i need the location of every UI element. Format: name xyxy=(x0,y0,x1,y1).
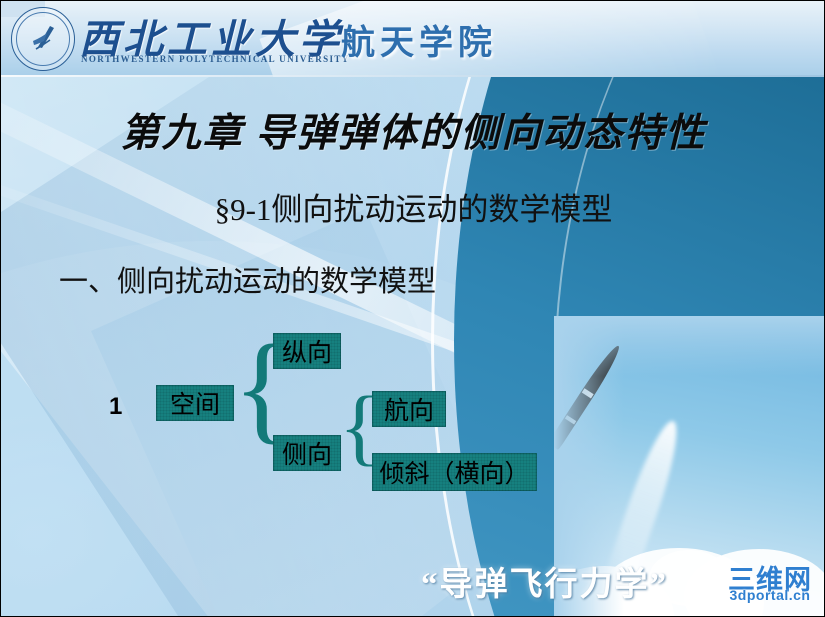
tree-node-heading: 航向 xyxy=(372,391,446,427)
site-watermark: 三维网 3dportal.cn xyxy=(728,567,812,602)
tree-node-root-label: 空间 xyxy=(170,385,220,421)
presentation-slide: 西北工业大学 NORTHWESTERN POLYTECHNICAL UNIVER… xyxy=(0,0,825,617)
tree-node-roll-label: 倾斜（横向） xyxy=(379,454,529,490)
tree-node-lateral-label: 侧向 xyxy=(282,435,332,471)
course-title: “导弹飞行力学” xyxy=(421,557,668,605)
tree-node-longitudinal: 纵向 xyxy=(273,333,341,369)
tree-node-roll: 倾斜（横向） xyxy=(372,453,537,491)
tree-node-lateral: 侧向 xyxy=(273,435,341,471)
tree-node-root: 空间 xyxy=(156,385,234,421)
tree-node-longitudinal-label: 纵向 xyxy=(282,333,332,369)
tree-node-heading-label: 航向 xyxy=(384,391,434,427)
classification-tree-diagram: 1 空间 { 纵向 侧向 { 航向 倾斜（横向） xyxy=(1,1,825,617)
diagram-index-label: 1 xyxy=(109,393,122,421)
watermark-en: 3dportal.cn xyxy=(728,588,812,602)
